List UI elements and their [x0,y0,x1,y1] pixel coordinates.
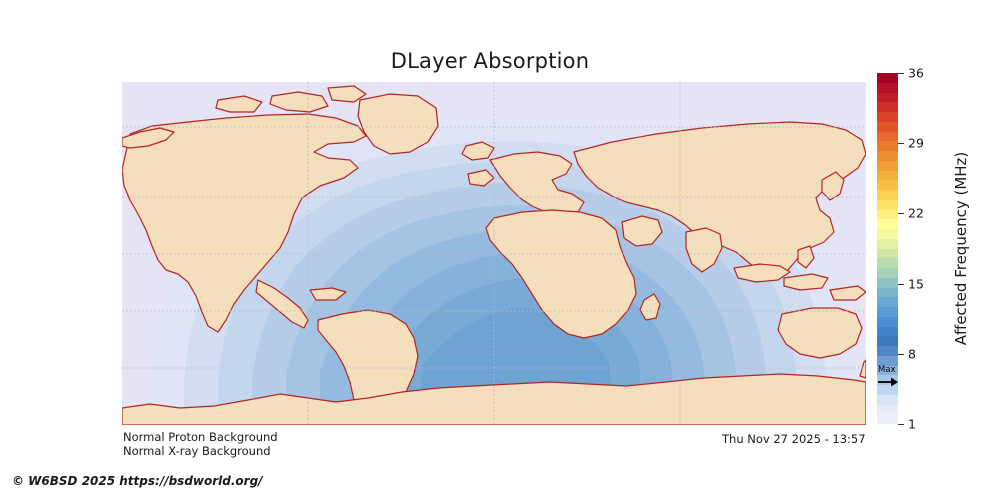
colorbar-gradient [877,73,898,424]
colorbar-band [877,405,898,415]
colorbar-tick [898,213,904,214]
colorbar-tick-label: 29 [908,136,924,151]
world-map-svg [122,82,866,425]
colorbar-tick [898,424,904,425]
colorbar-tick-label: 15 [908,276,924,291]
colorbar[interactable]: Max 3629221581 [877,73,898,424]
note-proton-background: Normal Proton Background [123,430,278,444]
colorbar-tick [898,143,904,144]
colorbar-band [877,210,898,220]
page-title: DLayer Absorption [0,48,980,74]
colorbar-band [877,93,898,103]
colorbar-axis-label: Affected Frequency (MHz) [949,73,973,424]
colorbar-tick [898,73,904,74]
colorbar-band [877,356,898,366]
colorbar-band [877,229,898,239]
colorbar-band [877,102,898,112]
colorbar-band [877,161,898,171]
copyright-notice: © W6BSD 2025 https://bsdworld.org/ [12,474,263,488]
colorbar-band [877,190,898,200]
colorbar-band [877,73,898,83]
colorbar-band [877,132,898,142]
figure-canvas: DLayer Absorption [0,0,1000,500]
colorbar-band [877,171,898,181]
colorbar-band [877,180,898,190]
colorbar-band [877,141,898,151]
colorbar-band [877,112,898,122]
colorbar-band [877,268,898,278]
colorbar-band [877,317,898,327]
colorbar-band [877,151,898,161]
colorbar-band [877,200,898,210]
colorbar-tick-label: 8 [908,346,916,361]
colorbar-band [877,336,898,346]
colorbar-band [877,395,898,405]
colorbar-band [877,307,898,317]
colorbar-band [877,258,898,268]
note-xray-background: Normal X-ray Background [123,444,271,458]
colorbar-tick-label: 1 [908,417,916,432]
timestamp: Thu Nov 27 2025 - 13:57 [722,432,866,446]
colorbar-band [877,219,898,229]
colorbar-tick [898,354,904,355]
map-plot-area[interactable] [122,82,866,425]
colorbar-band [877,83,898,93]
colorbar-band [877,327,898,337]
colorbar-band [877,297,898,307]
colorbar-band [877,366,898,376]
colorbar-tick-label: 22 [908,206,924,221]
colorbar-band [877,385,898,395]
colorbar-band [877,375,898,385]
colorbar-band [877,249,898,259]
colorbar-tick-label: 36 [908,66,924,81]
colorbar-tick [898,284,904,285]
colorbar-band [877,239,898,249]
colorbar-band [877,346,898,356]
colorbar-band [877,122,898,132]
colorbar-band [877,288,898,298]
colorbar-band [877,414,898,424]
colorbar-band [877,278,898,288]
